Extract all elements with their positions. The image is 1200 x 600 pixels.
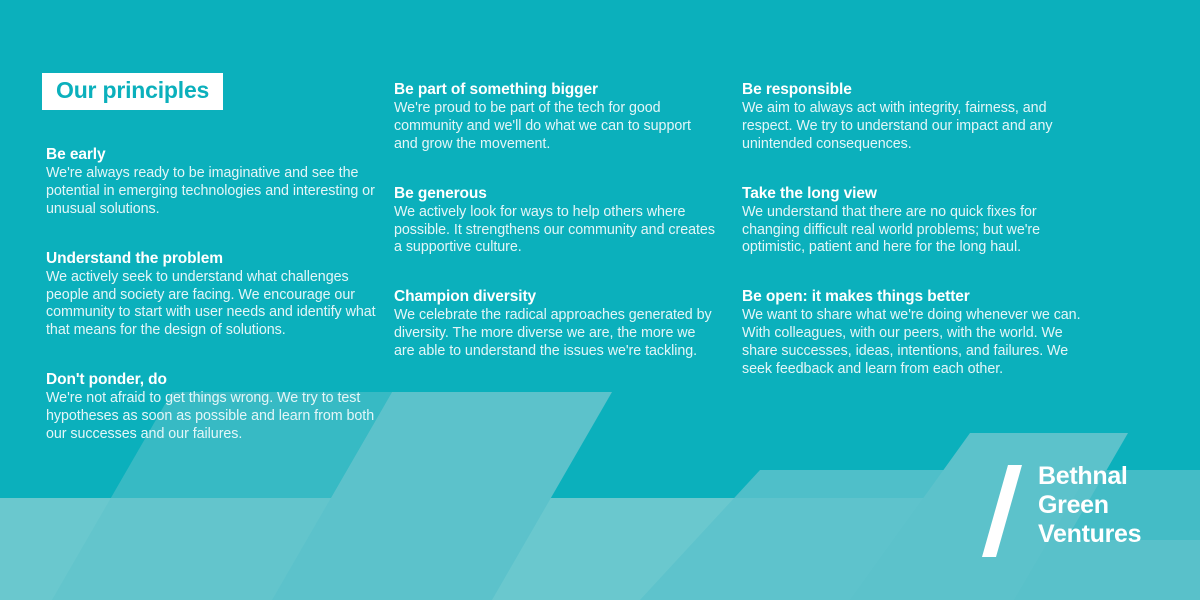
principle-item: Be generous We actively look for ways to… (394, 184, 716, 258)
principle-body: We're proud to be part of the tech for g… (394, 100, 716, 153)
principle-body: We actively seek to understand what chal… (46, 269, 376, 340)
principle-title: Be responsible (742, 80, 1082, 99)
principle-title: Be open: it makes things better (742, 287, 1082, 306)
principle-body: We celebrate the radical approaches gene… (394, 307, 716, 360)
brand-name-line-3: Ventures (1038, 520, 1141, 549)
page-title: Our principles (56, 79, 209, 102)
principle-body: We want to share what we're doing whenev… (742, 307, 1082, 378)
principle-item: Take the long view We understand that th… (742, 184, 1082, 258)
principle-item: Be early We're always ready to be imagin… (46, 145, 376, 219)
brand-logo: Bethnal Green Ventures (980, 462, 1180, 562)
principle-title: Understand the problem (46, 249, 376, 268)
principles-column-3: Be responsible We aim to always act with… (742, 80, 1082, 378)
principle-title: Be early (46, 145, 376, 164)
brand-name-line-1: Bethnal (1038, 462, 1141, 491)
principle-item: Don't ponder, do We're not afraid to get… (46, 370, 376, 444)
principle-title: Champion diversity (394, 287, 716, 306)
principle-item: Understand the problem We actively seek … (46, 249, 376, 340)
principle-item: Be part of something bigger We're proud … (394, 80, 716, 154)
principle-title: Be part of something bigger (394, 80, 716, 99)
principle-body: We're not afraid to get things wrong. We… (46, 390, 376, 443)
principle-title: Don't ponder, do (46, 370, 376, 389)
brand-name-line-2: Green (1038, 491, 1141, 520)
principles-column-2: Be part of something bigger We're proud … (394, 80, 716, 361)
brand-name: Bethnal Green Ventures (1038, 462, 1141, 549)
principle-title: Be generous (394, 184, 716, 203)
principle-item: Champion diversity We celebrate the radi… (394, 287, 716, 361)
principle-body: We actively look for ways to help others… (394, 204, 716, 257)
slash-mark-icon (982, 465, 1022, 557)
principle-body: We're always ready to be imaginative and… (46, 165, 376, 218)
page-title-badge: Our principles (42, 73, 223, 110)
principle-title: Take the long view (742, 184, 1082, 203)
principle-item: Be responsible We aim to always act with… (742, 80, 1082, 154)
principle-body: We understand that there are no quick fi… (742, 204, 1082, 257)
principle-item: Be open: it makes things better We want … (742, 287, 1082, 378)
principles-slide: Our principles Be early We're always rea… (0, 0, 1200, 600)
principles-column-1: Be early We're always ready to be imagin… (46, 145, 376, 443)
principle-body: We aim to always act with integrity, fai… (742, 100, 1082, 153)
